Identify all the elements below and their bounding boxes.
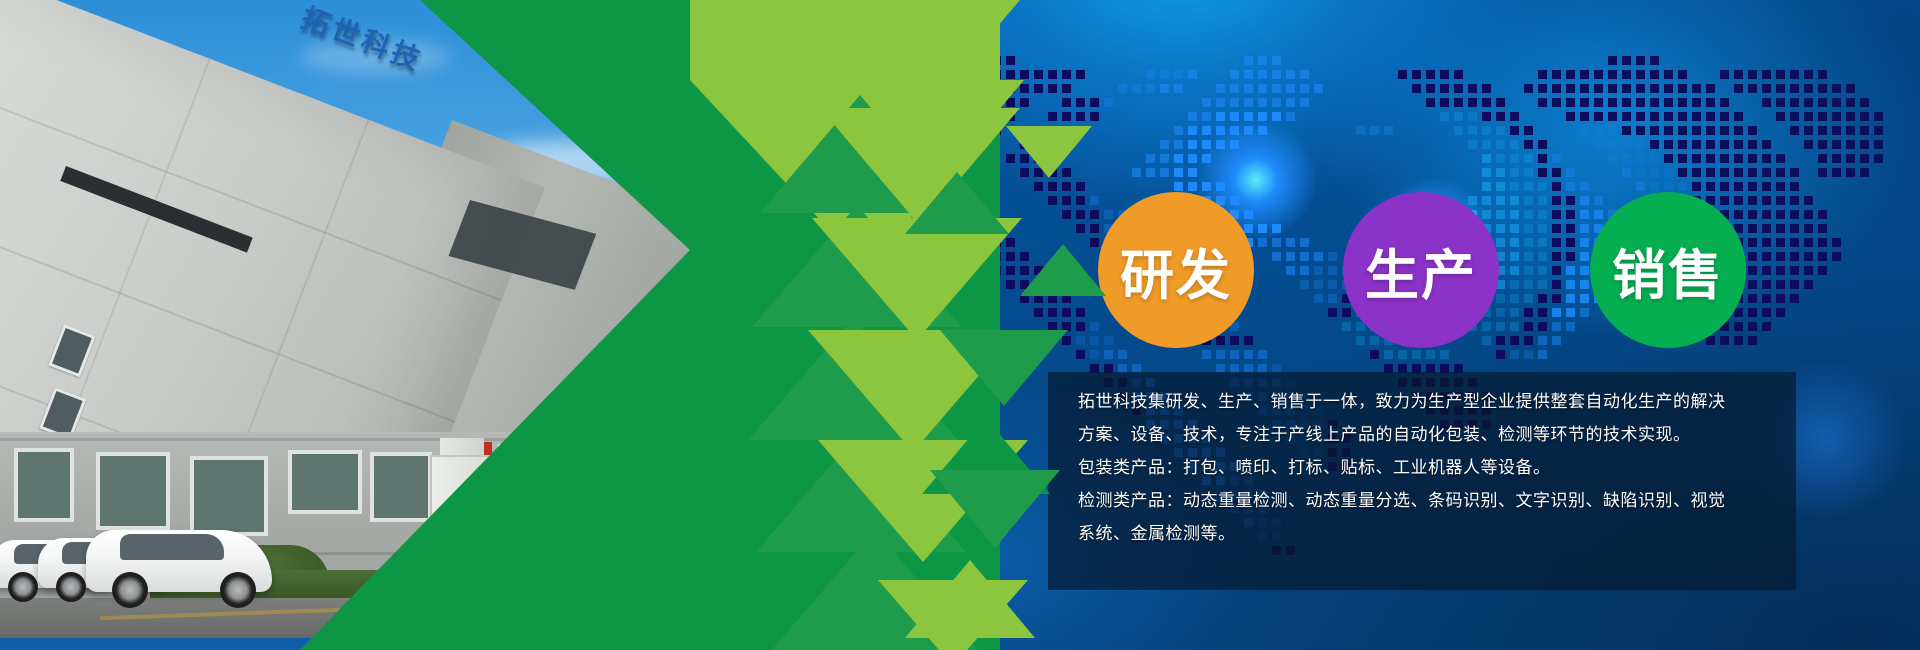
factory-photo: 拓世科技 bbox=[0, 0, 800, 650]
bottom-blue-bar bbox=[0, 638, 800, 650]
circle-rd[interactable]: 研发 bbox=[1098, 192, 1254, 348]
circle-sales[interactable]: 销售 bbox=[1590, 192, 1746, 348]
circle-production[interactable]: 生产 bbox=[1343, 192, 1499, 348]
description-line: 包装类产品：打包、喷印、打标、贴标、工业机器人等设备。 bbox=[1078, 452, 1790, 485]
roller-shutter-door bbox=[498, 444, 624, 606]
description-line: 方案、设备、技术，专注于产线上产品的自动化包装、检测等环节的技术实现。 bbox=[1078, 419, 1790, 452]
circle-label: 生产 bbox=[1365, 231, 1477, 310]
description-line: 检测类产品：动态重量检测、动态重量分选、条码识别、文字识别、缺陷识别、视觉 bbox=[1078, 485, 1790, 518]
description-line: 拓世科技集研发、生产、销售于一体，致力为生产型企业提供整套自动化生产的解决 bbox=[1078, 386, 1790, 419]
circle-label: 销售 bbox=[1612, 231, 1724, 310]
description-text: 拓世科技集研发、生产、销售于一体，致力为生产型企业提供整套自动化生产的解决 方案… bbox=[1078, 386, 1790, 551]
hero-banner: 拓世科技 bbox=[0, 0, 1920, 650]
circle-label: 研发 bbox=[1120, 231, 1232, 310]
side-door bbox=[430, 455, 502, 603]
description-line: 系统、金属检测等。 bbox=[1078, 518, 1790, 551]
